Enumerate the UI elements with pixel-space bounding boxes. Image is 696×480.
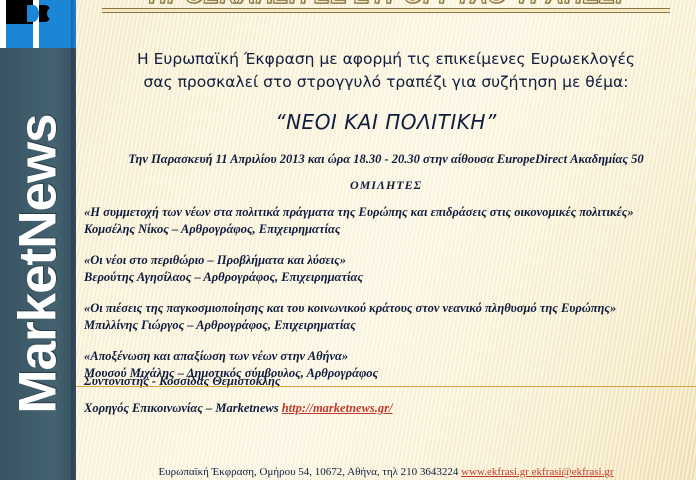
speaker-name: Βερούτης Αγησίλαος – Αρθρογράφος, Επιχει… [84,269,694,286]
intro-line-2: σας προσκαλεί στο στρογγυλό τραπέζι για … [96,71,676,94]
speaker-topic: «Η συμμετοχή των νέων στα πολιτικά πράγμ… [84,204,694,221]
logo-knob-left [14,7,27,20]
footer-contact-link[interactable]: www.ekfrasi.gr ekfrasi@ekfrasi.gr [461,466,613,478]
speaker-entry: «Οι πιέσεις της παγκοσμιοποίησης και του… [84,300,694,334]
logo-knob-right [47,7,60,20]
poster-content: ΠΡΟΣΚΛΗΣΗ ΣΕ ΣΤΡΟΓΓΥΛΟ ΤΡΑΠΕΖΙ Η Ευρωπαϊ… [76,0,696,480]
logo-gap-left [0,0,6,48]
brand-wordmark: MarketNews [0,48,76,480]
logo-notch-left [27,5,39,22]
brand-wordmark-label: MarketNews [8,114,69,413]
poster-topic-title: “ΝΕΟΙ ΚΑΙ ΠΟΛΙΤΙΚΗ” [96,110,676,134]
poster-footer: Ευρωπαϊκή Έκφραση, Ομήρου 54, 10672, Αθή… [76,466,696,478]
poster-canvas: MarketNews ΠΡΟΣΚΛΗΣΗ ΣΕ ΣΤΡΟΓΓΥΛΟ ΤΡΑΠΕΖ… [0,0,696,480]
sponsor-line: Χορηγός Επικοινωνίας – Marketnews http:/… [84,401,392,416]
speaker-topic: «Οι νέοι στο περιθώριο – Προβλήματα και … [84,252,694,269]
footer-address: Ευρωπαϊκή Έκφραση, Ομήρου 54, 10672, Αθή… [158,466,458,478]
speaker-topic: «Οι πιέσεις της παγκοσμιοποίησης και του… [84,300,694,317]
speaker-entry: «Οι νέοι στο περιθώριο – Προβλήματα και … [84,252,694,286]
sponsor-label: Χορηγός Επικοινωνίας – Marketnews [84,401,279,415]
heading-underline-rule [102,8,670,13]
speaker-name: Κομσέλης Νίκος – Αρθρογράφος, Επιχειρημα… [84,221,694,238]
speaker-entry: «Η συμμετοχή των νέων στα πολιτικά πράγμ… [84,204,694,238]
section-divider [76,386,696,387]
speaker-name: Μπιλλίνης Γιώργος – Αρθρογράφος, Επιχειρ… [84,317,694,334]
speakers-section-label: ΟΜΙΛΗΤΕΣ [86,178,686,193]
speakers-list: «Η συμμετοχή των νέων στα πολιτικά πράγμ… [84,204,694,396]
sponsor-link[interactable]: http://marketnews.gr/ [282,401,393,415]
speaker-topic: «Αποξένωση και απαξίωση των νέων στην Αθ… [84,348,694,365]
event-datetime-venue: Την Παρασκευή 11 Απριλίου 2013 και ώρα 1… [86,152,686,167]
puzzle-pieces-icon [0,0,76,48]
intro-line-1: Η Ευρωπαϊκή Έκφραση με αφορμή τις επικεί… [96,48,676,71]
poster-intro: Η Ευρωπαϊκή Έκφραση με αφορμή τις επικεί… [96,48,676,94]
sidebar-edge-shadow [71,0,76,480]
brand-sidebar: MarketNews [0,0,76,480]
